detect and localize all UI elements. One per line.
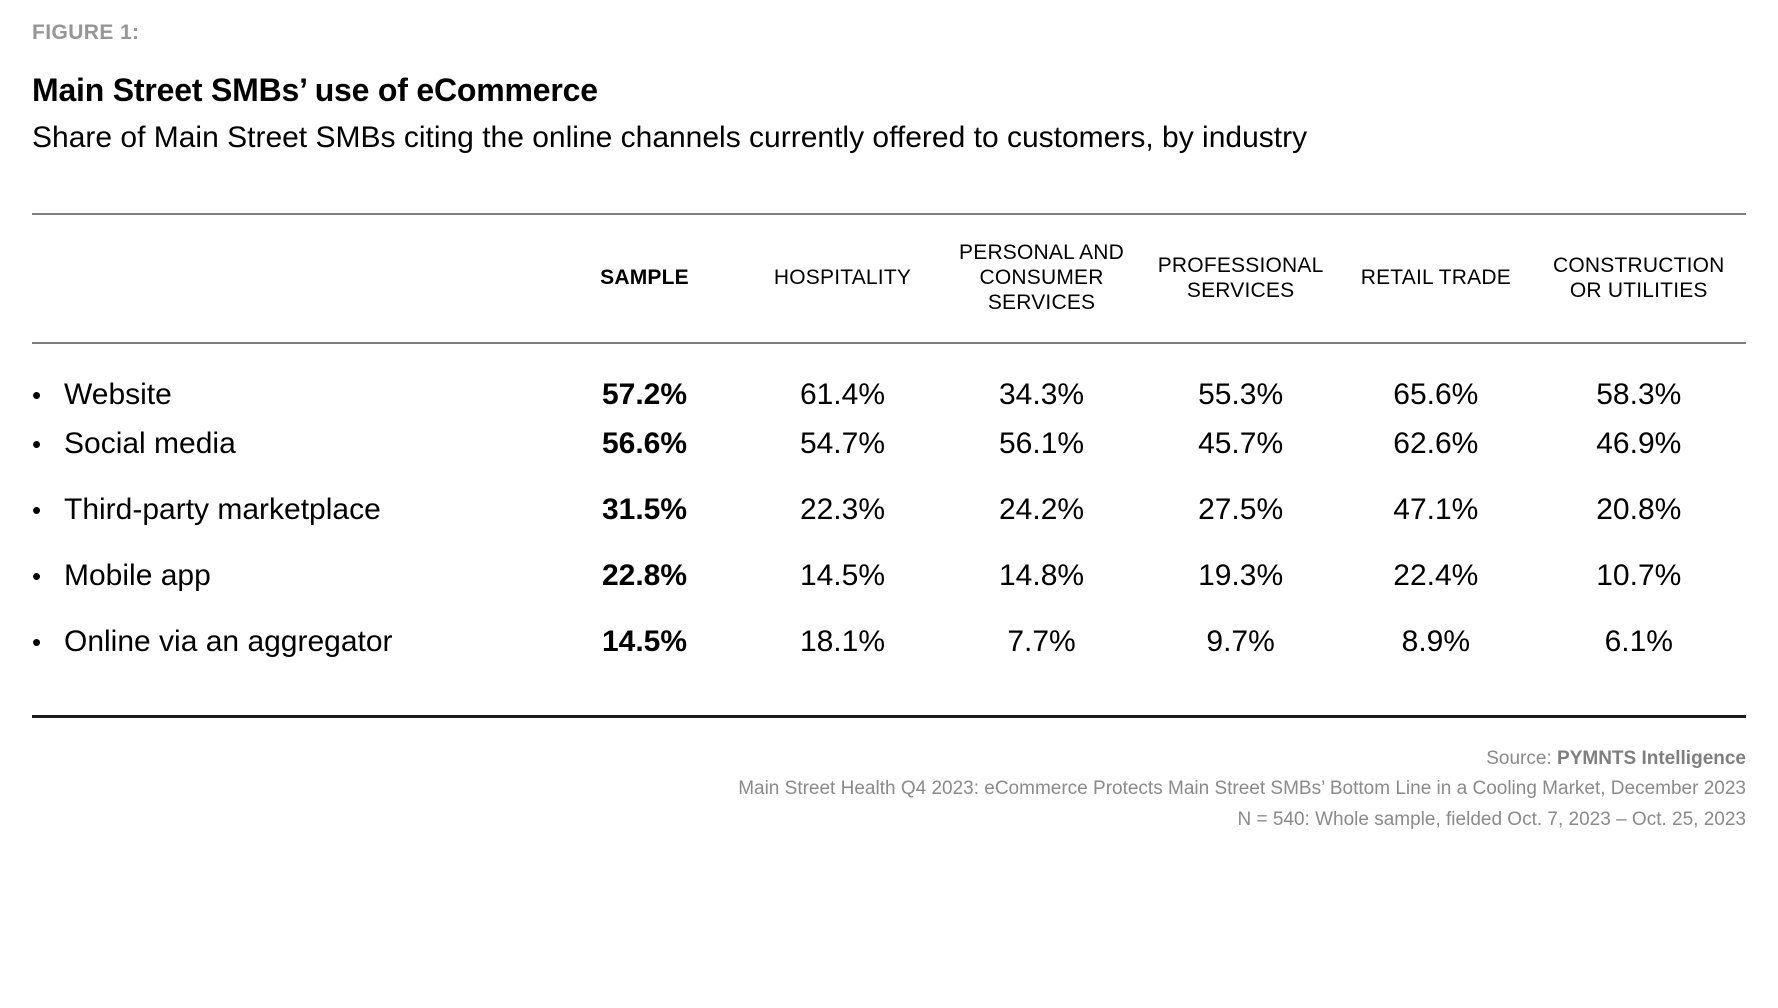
cell-construction: 6.1% xyxy=(1532,609,1746,675)
table-row: • Third-party marketplace 31.5% 22.3% 24… xyxy=(32,477,1746,543)
bullet-icon: • xyxy=(32,431,64,457)
cell-professional: 45.7% xyxy=(1141,411,1340,477)
cell-retail: 65.6% xyxy=(1340,343,1531,411)
column-header-hospitality: HOSPITALITY xyxy=(743,214,942,342)
cell-sample: 14.5% xyxy=(546,609,743,675)
table-header: SAMPLE HOSPITALITY PERSONAL AND CONSUMER… xyxy=(32,214,1746,342)
cell-hospitality: 61.4% xyxy=(743,343,942,411)
row-label-cell: • Third-party marketplace xyxy=(32,477,546,543)
cell-professional: 55.3% xyxy=(1141,343,1340,411)
cell-sample: 22.8% xyxy=(546,543,743,609)
cell-hospitality: 54.7% xyxy=(743,411,942,477)
table-header-row: SAMPLE HOSPITALITY PERSONAL AND CONSUMER… xyxy=(32,214,1746,342)
row-label-text: Mobile app xyxy=(64,559,211,592)
column-header-sample: SAMPLE xyxy=(546,214,743,342)
source-line: Source: PYMNTS Intelligence xyxy=(32,744,1746,775)
column-header-retail-trade: RETAIL TRADE xyxy=(1340,214,1531,342)
row-label-text: Third-party marketplace xyxy=(64,493,381,526)
cell-sample: 31.5% xyxy=(546,477,743,543)
cell-sample: 57.2% xyxy=(546,343,743,411)
cell-retail: 47.1% xyxy=(1340,477,1531,543)
cell-retail: 8.9% xyxy=(1340,609,1531,675)
figure-container: FIGURE 1: Main Street SMBs’ use of eComm… xyxy=(0,0,1778,1008)
table-row: • Mobile app 22.8% 14.5% 14.8% 19.3% 22.… xyxy=(32,543,1746,609)
cell-hospitality: 14.5% xyxy=(743,543,942,609)
table-wrapper: SAMPLE HOSPITALITY PERSONAL AND CONSUMER… xyxy=(32,213,1746,717)
bullet-icon: • xyxy=(32,629,64,655)
cell-personal: 34.3% xyxy=(942,343,1141,411)
row-label-text: Online via an aggregator xyxy=(64,625,393,658)
cell-retail: 22.4% xyxy=(1340,543,1531,609)
cell-hospitality: 22.3% xyxy=(743,477,942,543)
table-bottom-rule xyxy=(32,715,1746,718)
cell-personal: 7.7% xyxy=(942,609,1141,675)
row-label-cell: • Website xyxy=(32,343,546,411)
cell-professional: 9.7% xyxy=(1141,609,1340,675)
column-header-label xyxy=(32,214,546,342)
table-row: • Social media 56.6% 54.7% 56.1% 45.7% 6… xyxy=(32,411,1746,477)
cell-construction: 58.3% xyxy=(1532,343,1746,411)
cell-personal: 24.2% xyxy=(942,477,1141,543)
cell-professional: 27.5% xyxy=(1141,477,1340,543)
table-body: • Website 57.2% 61.4% 34.3% 55.3% 65.6% … xyxy=(32,343,1746,675)
source-label: Source: xyxy=(1486,748,1557,769)
row-label-cell: • Mobile app xyxy=(32,543,546,609)
source-name: PYMNTS Intelligence xyxy=(1557,748,1746,769)
cell-personal: 14.8% xyxy=(942,543,1141,609)
column-header-construction-or-utilities: CONSTRUCTION OR UTILITIES xyxy=(1532,214,1746,342)
bullet-icon: • xyxy=(32,382,64,408)
row-label-text: Social media xyxy=(64,427,236,460)
ecommerce-usage-table: SAMPLE HOSPITALITY PERSONAL AND CONSUMER… xyxy=(32,213,1746,674)
table-row: • Online via an aggregator 14.5% 18.1% 7… xyxy=(32,609,1746,675)
cell-retail: 62.6% xyxy=(1340,411,1531,477)
citation-line: Main Street Health Q4 2023: eCommerce Pr… xyxy=(32,774,1746,805)
figure-label: FIGURE 1: xyxy=(32,0,1746,45)
cell-construction: 20.8% xyxy=(1532,477,1746,543)
footnotes: Source: PYMNTS Intelligence Main Street … xyxy=(32,744,1746,836)
figure-title: Main Street SMBs’ use of eCommerce xyxy=(32,72,1746,109)
figure-subtitle: Share of Main Street SMBs citing the onl… xyxy=(32,119,1452,157)
table-row: • Website 57.2% 61.4% 34.3% 55.3% 65.6% … xyxy=(32,343,1746,411)
row-label-text: Website xyxy=(64,378,172,411)
cell-construction: 46.9% xyxy=(1532,411,1746,477)
row-label-cell: • Social media xyxy=(32,411,546,477)
cell-construction: 10.7% xyxy=(1532,543,1746,609)
cell-hospitality: 18.1% xyxy=(743,609,942,675)
cell-professional: 19.3% xyxy=(1141,543,1340,609)
sample-note-line: N = 540: Whole sample, fielded Oct. 7, 2… xyxy=(32,805,1746,836)
bullet-icon: • xyxy=(32,497,64,523)
bullet-icon: • xyxy=(32,563,64,589)
row-label-cell: • Online via an aggregator xyxy=(32,609,546,675)
cell-personal: 56.1% xyxy=(942,411,1141,477)
cell-sample: 56.6% xyxy=(546,411,743,477)
column-header-professional-services: PROFESSIONAL SERVICES xyxy=(1141,214,1340,342)
column-header-personal-and-consumer-services: PERSONAL AND CONSUMER SERVICES xyxy=(942,214,1141,342)
